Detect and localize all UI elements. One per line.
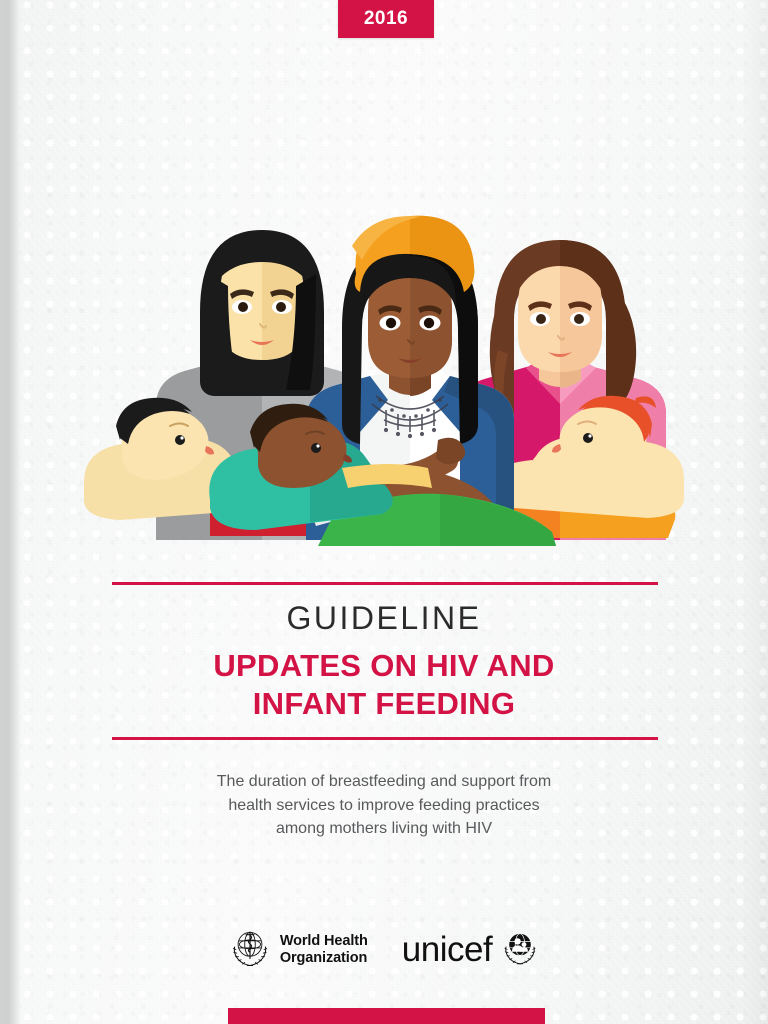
title-block: GUIDELINE UPDATES ON HIV AND INFANT FEED… [0,600,768,724]
who-wordmark: World Health Organization [280,933,368,965]
title-kicker: GUIDELINE [0,600,768,638]
page-title-line-2: INFANT FEEDING [0,685,768,723]
unicef-logo: unicef [402,927,540,972]
page-outer-edge-shadow [742,0,768,1024]
subtitle-line-1: The duration of breastfeeding and suppor… [134,770,634,794]
page-spine-shadow [0,0,20,1024]
who-wordmark-line-1: World Health [280,933,368,949]
subtitle-line-3: among mothers living with HIV [134,817,634,841]
unicef-emblem-icon [500,927,540,972]
bottom-accent-bar [228,1008,545,1024]
unicef-wordmark: unicef [402,932,492,967]
subtitle: The duration of breastfeeding and suppor… [134,770,634,841]
year-label: 2016 [364,8,408,30]
who-wordmark-line-2: Organization [280,950,368,966]
year-tab: 2016 [338,0,434,38]
who-emblem-icon [228,925,272,974]
title-rule-bottom [112,737,658,740]
cover-illustration [60,200,708,585]
who-logo: World Health Organization [228,925,368,974]
page-title-line-1: UPDATES ON HIV AND [0,647,768,685]
page-title: UPDATES ON HIV AND INFANT FEEDING [0,647,768,724]
title-rule-top [112,582,658,585]
logo-row: World Health Organization unicef [0,925,768,974]
document-page: 2016 [0,0,768,1024]
subtitle-line-2: health services to improve feeding pract… [134,794,634,818]
